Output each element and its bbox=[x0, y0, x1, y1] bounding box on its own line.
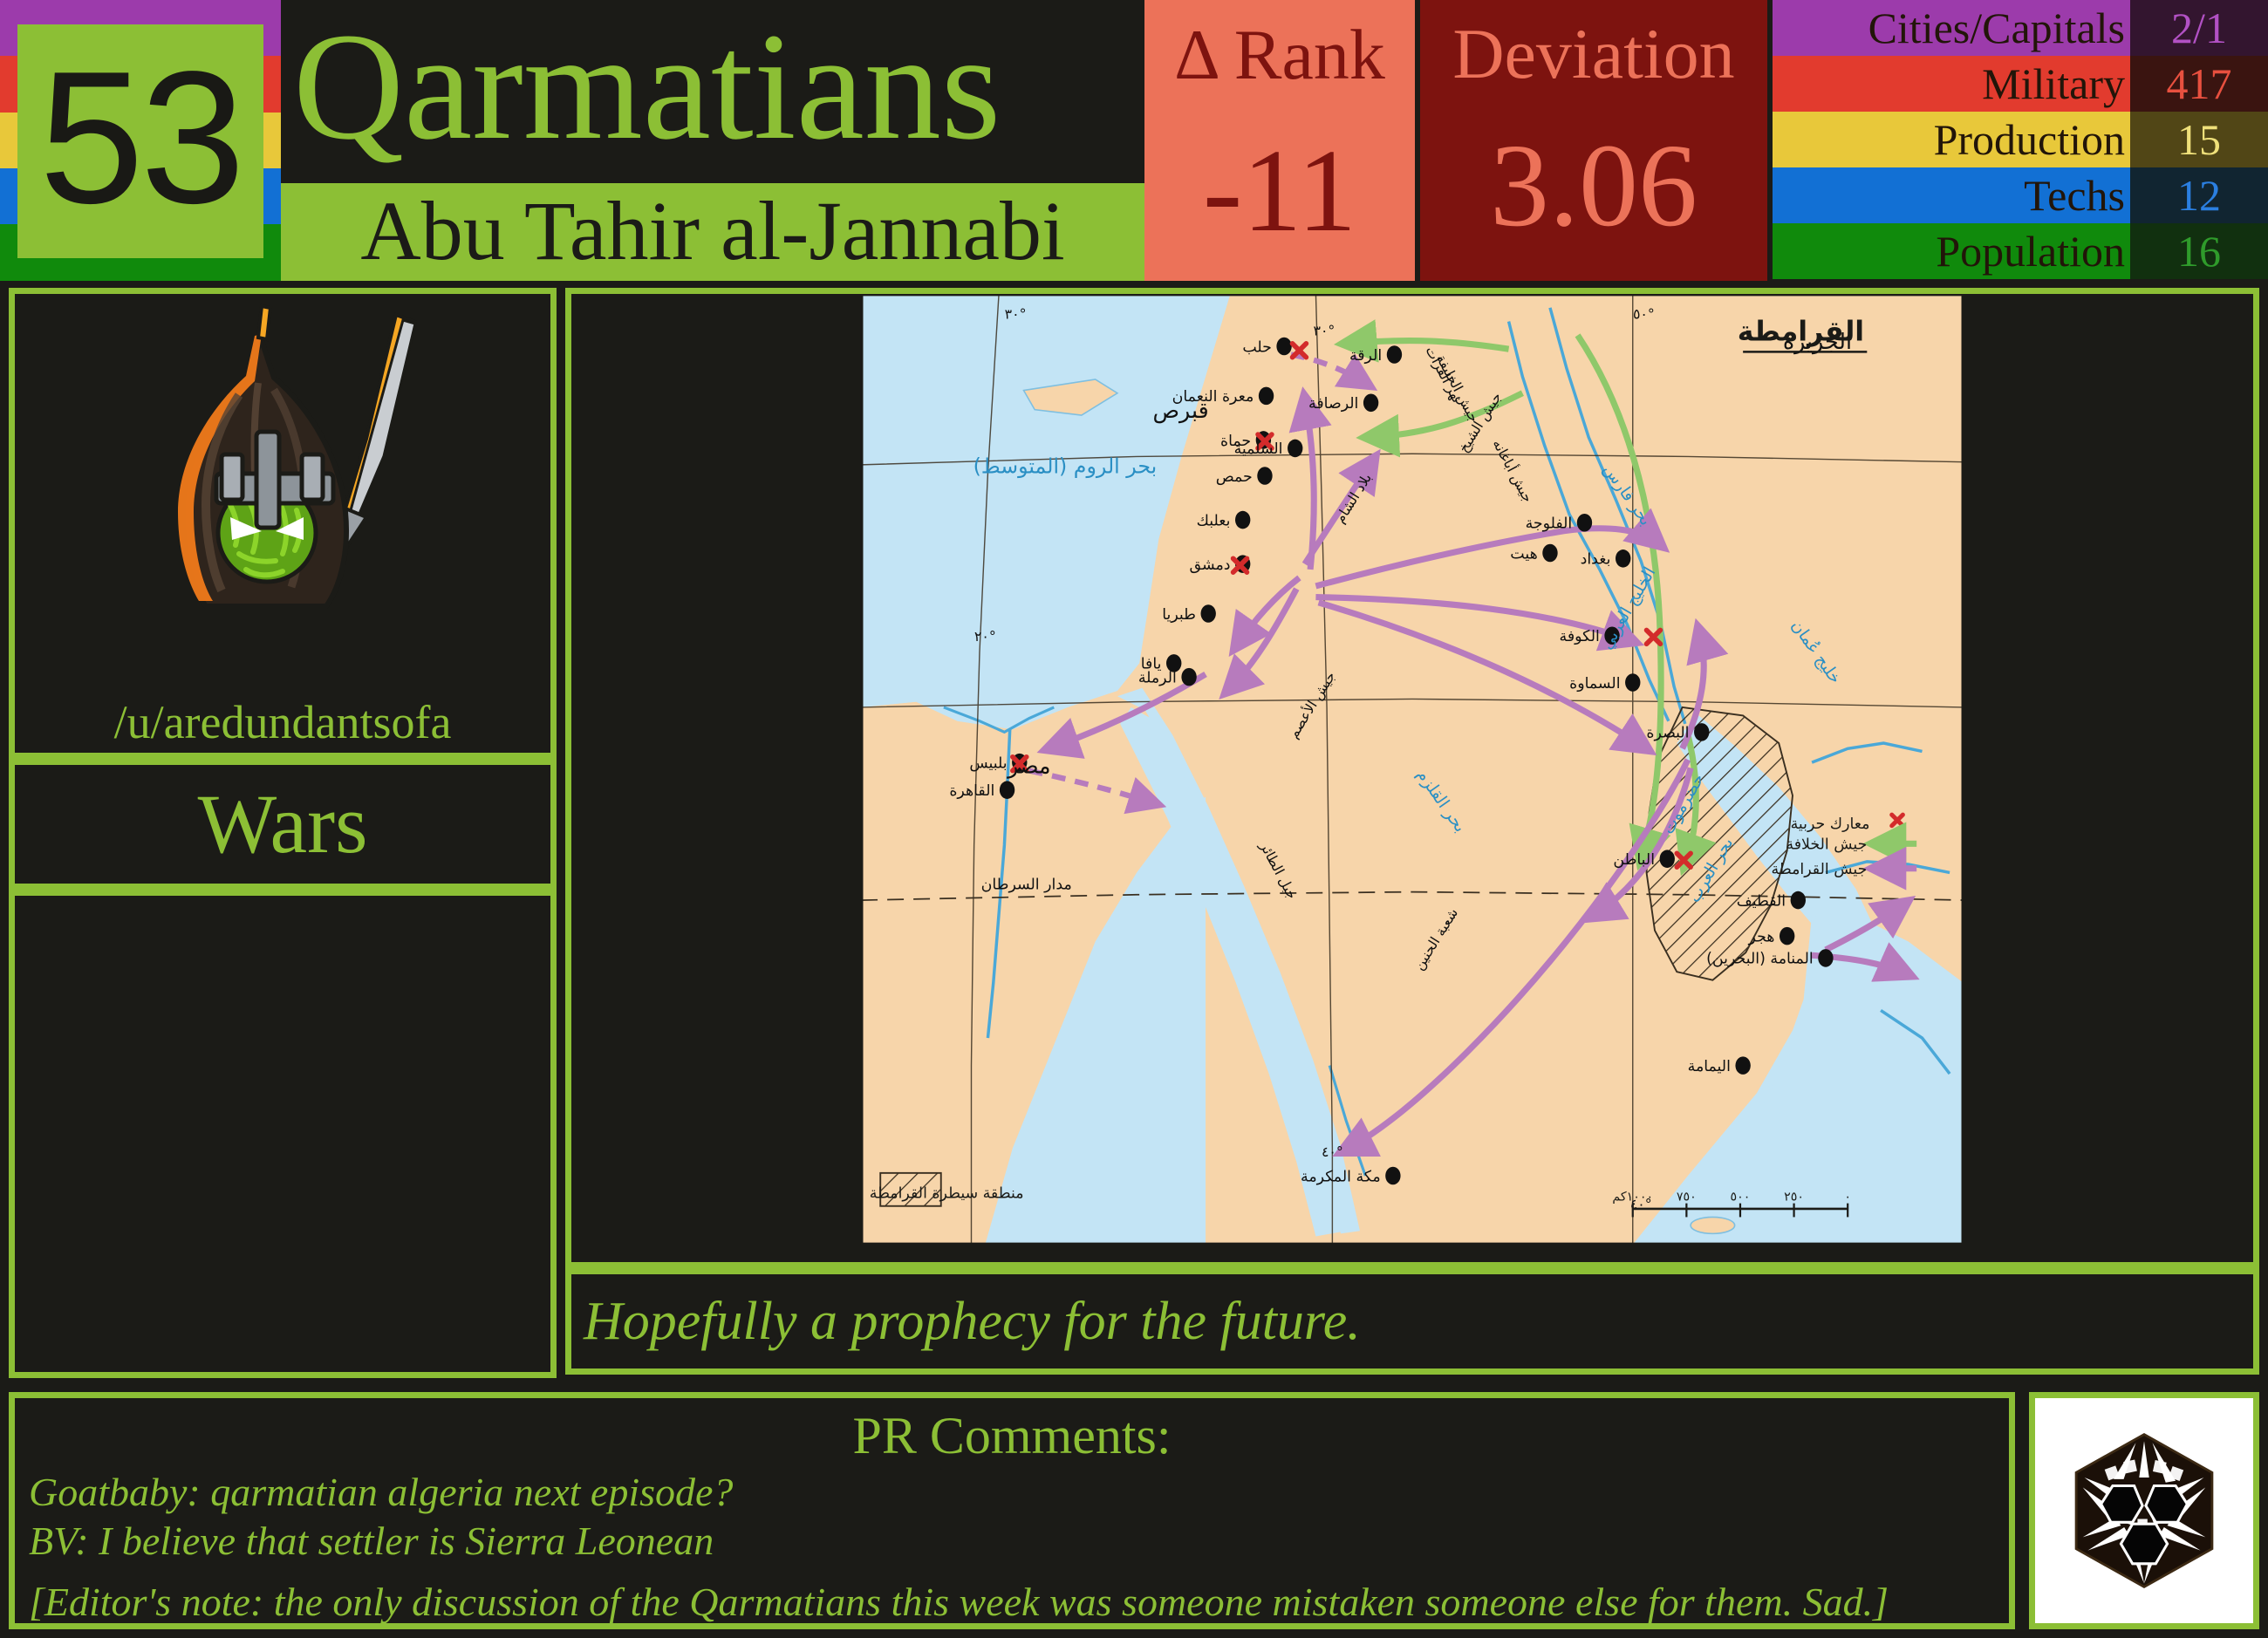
map-caption: Hopefully a prophecy for the future. bbox=[565, 1268, 2259, 1375]
control-zone-label: منطقة سيطرة القرامطة bbox=[870, 1184, 1024, 1202]
map-scale-tick: ٥٠٠ bbox=[1731, 1190, 1751, 1204]
stat-label: Cities/Capitals bbox=[1773, 0, 2130, 56]
leader-name: Abu Tahir al-Jannabi bbox=[281, 183, 1144, 281]
map-scale-tick: ١٠٠٠كم bbox=[1612, 1190, 1653, 1204]
map-panel: حلبالرقةمعرة النعمانالرصافةحماةالسلميةحم… bbox=[565, 288, 2259, 1268]
map-city-dot bbox=[1363, 394, 1378, 413]
rank-delta-value: -11 bbox=[1144, 96, 1415, 256]
wars-header-panel: Wars bbox=[9, 759, 557, 890]
stat-label: Population bbox=[1773, 223, 2130, 279]
map-city-dot bbox=[1257, 467, 1272, 485]
map-scale-tick: ٠ bbox=[1844, 1190, 1851, 1204]
pr-comments-list: Goatbaby: qarmatian algeria next episode… bbox=[15, 1468, 2009, 1627]
map-region-label: قبرص bbox=[1153, 398, 1209, 424]
map-city-dot bbox=[1780, 927, 1794, 945]
logo-panel bbox=[2029, 1392, 2259, 1629]
map-city-dot bbox=[1616, 549, 1630, 568]
wars-list-panel bbox=[9, 890, 557, 1378]
qarmatian-campaign-map: حلبالرقةمعرة النعمانالرصافةحماةالسلميةحم… bbox=[859, 294, 1965, 1245]
map-city-label: الرملة bbox=[1138, 669, 1177, 686]
map-city-dot bbox=[1235, 511, 1250, 529]
avatar-panel: /u/aredundantsofa bbox=[9, 288, 557, 759]
map-city-label: هجر bbox=[1748, 928, 1775, 945]
map-city-label: الرقة bbox=[1349, 347, 1382, 365]
stat-value: 417 bbox=[2130, 56, 2268, 112]
stat-row: Population16 bbox=[1773, 223, 2268, 279]
map-city-dot bbox=[1201, 604, 1216, 623]
map-city-label: مكة المكرمة bbox=[1301, 1168, 1381, 1185]
map-city-dot bbox=[1625, 673, 1640, 692]
rank-delta-panel: Δ Rank -11 bbox=[1144, 0, 1415, 281]
map-city-label: البصرة bbox=[1646, 725, 1689, 742]
map-city-label: الباطن bbox=[1613, 851, 1655, 869]
stat-row: Production15 bbox=[1773, 112, 2268, 167]
map-image: حلبالرقةمعرة النعمانالرصافةحماةالسلميةحم… bbox=[859, 294, 1965, 1245]
stat-label: Techs bbox=[1773, 167, 2130, 223]
map-city-label: بعلبك bbox=[1197, 512, 1231, 529]
map-city-dot bbox=[1259, 387, 1274, 406]
map-graticule-label: ٣٠° bbox=[1005, 305, 1027, 322]
map-city-label: السلمية bbox=[1234, 440, 1283, 458]
map-city-label: المنامة (البحرين) bbox=[1706, 951, 1814, 968]
legend-qarmatian-label: جيش القرامطة bbox=[1772, 861, 1868, 878]
header-bar: 53 Qarmatians Abu Tahir al-Jannabi Δ Ran… bbox=[0, 0, 2268, 281]
map-title: القرامطة bbox=[1738, 317, 1864, 348]
map-city-dot bbox=[1791, 891, 1806, 910]
map-city-dot bbox=[1818, 949, 1833, 967]
username-label: /u/aredundantsofa bbox=[15, 695, 550, 749]
hex-trio-logo-icon bbox=[2061, 1428, 2227, 1594]
map-city-dot bbox=[1000, 781, 1014, 799]
stat-row: Military417 bbox=[1773, 56, 2268, 112]
map-graticule-label: ٥٠° bbox=[1633, 305, 1655, 322]
map-city-dot bbox=[1577, 514, 1592, 532]
map-city-label: دمشق bbox=[1189, 556, 1230, 574]
rank-delta-label: Δ Rank bbox=[1144, 0, 1415, 96]
map-city-label: حمص bbox=[1216, 468, 1253, 486]
legend-caliphate-label: جيش الخلافة bbox=[1786, 836, 1867, 854]
deviation-label: Deviation bbox=[1420, 0, 1767, 96]
map-graticule-label: ٢٠° bbox=[974, 628, 996, 645]
map-scale-tick: ٢٥٠ bbox=[1784, 1190, 1804, 1204]
stat-value: 15 bbox=[2130, 112, 2268, 167]
rank-number: 53 bbox=[17, 24, 263, 258]
rank-badge: 53 bbox=[0, 0, 281, 281]
map-region-label: مصر bbox=[1006, 754, 1050, 780]
map-legend: معارك حربية جيش الخلافة جيش القرامطة bbox=[1772, 815, 1917, 878]
stat-value: 12 bbox=[2130, 167, 2268, 223]
name-column: Qarmatians Abu Tahir al-Jannabi bbox=[281, 0, 1144, 281]
map-city-dot bbox=[1660, 850, 1675, 868]
map-city-label: بغداد bbox=[1581, 551, 1611, 569]
pr-comment: [Editor's note: the only discussion of t… bbox=[15, 1566, 2009, 1627]
map-city-label: حلب bbox=[1242, 338, 1272, 356]
pr-comment: Goatbaby: qarmatian algeria next episode… bbox=[15, 1468, 2009, 1517]
map-scale-tick: ٧٥٠ bbox=[1677, 1190, 1697, 1204]
stat-value: 2/1 bbox=[2130, 0, 2268, 56]
pr-comments-panel: PR Comments: Goatbaby: qarmatian algeria… bbox=[9, 1392, 2015, 1629]
stat-label: Military bbox=[1773, 56, 2130, 112]
map-city-label: القاهرة bbox=[949, 782, 994, 800]
stat-label: Production bbox=[1773, 112, 2130, 167]
map-city-label: الكوفة bbox=[1560, 628, 1600, 645]
map-city-dot bbox=[1542, 544, 1557, 563]
stats-table: Cities/Capitals2/1Military417Production1… bbox=[1773, 0, 2268, 281]
map-city-dot bbox=[1276, 338, 1291, 356]
map-city-label: بلبيس bbox=[969, 754, 1007, 772]
map-city-dot bbox=[1387, 345, 1402, 364]
infographic-card: 53 Qarmatians Abu Tahir al-Jannabi Δ Ran… bbox=[0, 0, 2268, 1638]
map-city-label: القطيف bbox=[1737, 892, 1786, 910]
map-tropic-label: مدار السرطان bbox=[981, 876, 1072, 893]
map-city-dot bbox=[1735, 1056, 1750, 1075]
map-city-label: الفلوجة bbox=[1526, 515, 1573, 533]
map-city-dot bbox=[1694, 723, 1709, 741]
map-city-dot bbox=[1181, 668, 1196, 686]
map-city-label: السماوة bbox=[1569, 675, 1620, 693]
map-city-dot bbox=[1385, 1167, 1400, 1185]
qarmatian-countryball-avatar-icon bbox=[108, 299, 457, 665]
map-city-label: الرصافة bbox=[1308, 395, 1358, 413]
deviation-value: 3.06 bbox=[1420, 96, 1767, 251]
map-graticule-label: ٣٠° bbox=[1313, 322, 1335, 338]
pr-comments-title: PR Comments: bbox=[15, 1398, 2009, 1468]
map-city-dot bbox=[1288, 440, 1302, 458]
legend-battles-label: معارك حربية bbox=[1791, 816, 1870, 833]
civilization-name: Qarmatians bbox=[293, 0, 1148, 180]
avatar bbox=[108, 299, 457, 670]
map-city-label: هيت bbox=[1510, 545, 1537, 563]
map-city-label: اليمامة bbox=[1688, 1058, 1731, 1075]
map-graticule-label: ٤٠° bbox=[1322, 1143, 1343, 1160]
deviation-panel: Deviation 3.06 bbox=[1420, 0, 1767, 281]
stat-row: Cities/Capitals2/1 bbox=[1773, 0, 2268, 56]
pr-comment: BV: I believe that settler is Sierra Leo… bbox=[15, 1517, 2009, 1566]
map-sea-label: بحر الروم (المتوسط) bbox=[973, 454, 1158, 478]
wars-title: Wars bbox=[15, 765, 550, 884]
stat-value: 16 bbox=[2130, 223, 2268, 279]
map-city-label: طبريا bbox=[1162, 606, 1196, 624]
stat-row: Techs12 bbox=[1773, 167, 2268, 223]
